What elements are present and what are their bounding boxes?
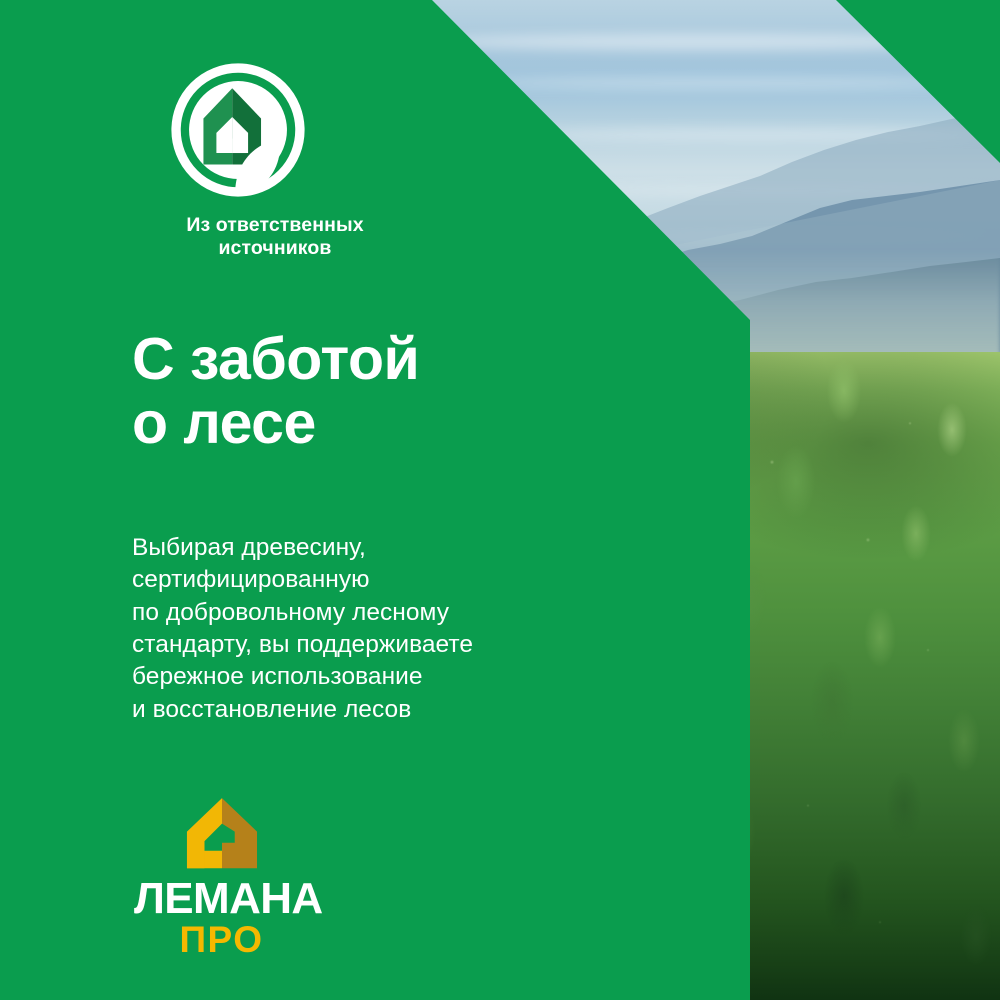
headline-line-2: о лесе <box>132 392 419 456</box>
responsible-sources-mark-icon <box>166 58 310 202</box>
brand-name: ЛЕМАНА <box>134 877 309 920</box>
body-line-1: Выбирая древесину, <box>132 532 473 564</box>
body-line-4: стандарту, вы поддерживаете <box>132 629 473 661</box>
eco-badge-caption: Из ответственных источников <box>130 214 420 260</box>
headline: С заботой о лесе <box>132 328 419 455</box>
eco-caption-line-2: источников <box>130 237 420 260</box>
eco-caption-line-1: Из ответственных <box>130 214 420 237</box>
eco-certification-badge: Из ответственных источников <box>130 58 420 260</box>
body-line-5: бережное использование <box>132 661 473 693</box>
banner-content: Из ответственных источников С заботой о … <box>0 0 1000 1000</box>
body-line-2: сертифицированную <box>132 564 473 596</box>
brand-sub-label: ПРО <box>134 921 309 958</box>
promo-banner: Из ответственных источников С заботой о … <box>0 0 1000 1000</box>
headline-line-1: С заботой <box>132 328 419 392</box>
house-roof-icon <box>182 795 262 873</box>
body-line-3: по добровольному лесному <box>132 597 473 629</box>
body-line-6: и восстановление лесов <box>132 694 473 726</box>
body-copy: Выбирая древесину, сертифицированную по … <box>132 532 473 726</box>
lemana-pro-logo: ЛЕМАНА ПРО <box>134 795 309 958</box>
